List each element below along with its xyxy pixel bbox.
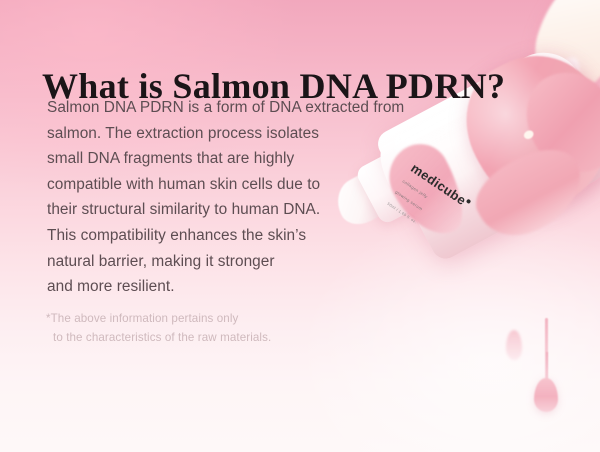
serum-droplet-icon [534,378,558,412]
body-line: natural barrier, making it stronger [47,249,467,275]
body-line: Salmon DNA PDRN is a form of DNA extract… [47,95,467,121]
footnote-line-1: *The above information pertains only [46,309,271,328]
body-line: their structural similarity to human DNA… [47,197,467,223]
body-line: and more resilient. [47,274,467,300]
footnote-disclaimer: *The above information pertains only to … [46,309,271,347]
product-info-banner: medicube collagen jelly glowing serum 50… [0,0,600,452]
footnote-line-2: to the characteristics of the raw materi… [46,328,271,347]
body-line: compatible with human skin cells due to [47,172,467,198]
body-line: This compatibility enhances the skin’s [47,223,467,249]
body-description: Salmon DNA PDRN is a form of DNA extract… [47,95,467,300]
body-line: small DNA fragments that are highly [47,146,467,172]
serum-drip-small-icon [506,330,522,360]
body-line: salmon. The extraction process isolates [47,121,467,147]
